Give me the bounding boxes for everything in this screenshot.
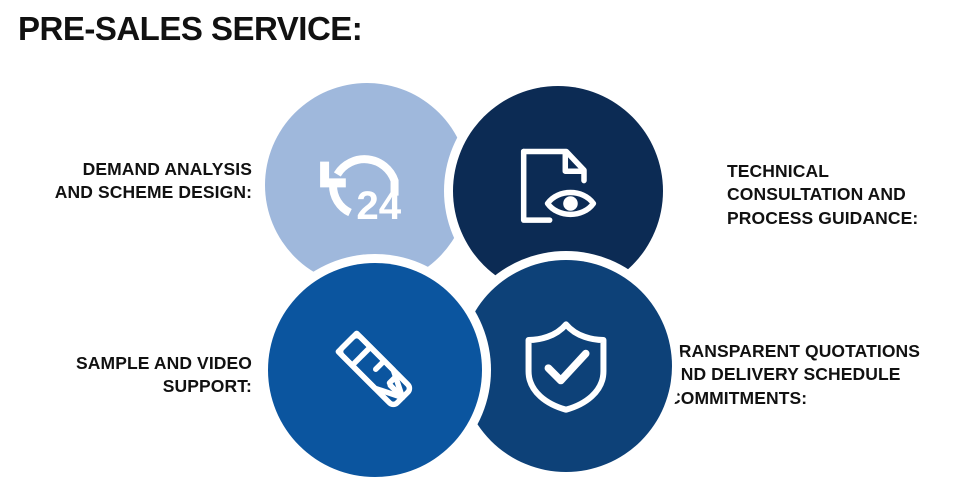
- label-line: COMMITMENTS:: [668, 387, 960, 410]
- circle-cluster: 24: [255, 78, 685, 498]
- label-line: CONSULTATION AND: [727, 183, 949, 206]
- svg-text:24: 24: [356, 183, 401, 228]
- label-technical-consultation: TECHNICAL CONSULTATION AND PROCESS GUIDA…: [727, 160, 949, 230]
- label-line: SAMPLE AND VIDEO: [0, 352, 252, 375]
- shield-check-icon: [514, 314, 618, 418]
- label-sample-video-support: SAMPLE AND VIDEO SUPPORT:: [0, 352, 252, 399]
- label-line: DEMAND ANALYSIS: [0, 158, 252, 181]
- circle-demand-analysis[interactable]: 24: [265, 83, 469, 287]
- label-transparent-quotations: TRANSPARENT QUOTATIONS AND DELIVERY SCHE…: [668, 340, 960, 410]
- page-title: PRE-SALES SERVICE:: [18, 10, 362, 48]
- circle-transparent-quotations[interactable]: [460, 260, 672, 472]
- label-line: TECHNICAL: [727, 160, 949, 183]
- label-line: TRANSPARENT QUOTATIONS: [668, 340, 960, 363]
- clock-24-rotate-arrow-icon: 24: [314, 132, 420, 238]
- label-line: AND DELIVERY SCHEDULE: [668, 363, 960, 386]
- label-line: AND SCHEME DESIGN:: [0, 181, 252, 204]
- label-demand-analysis: DEMAND ANALYSIS AND SCHEME DESIGN:: [0, 158, 252, 205]
- document-eye-review-icon: [506, 139, 610, 243]
- pencil-ruler-cross-icon: [321, 316, 429, 424]
- circle-sample-video-support[interactable]: [268, 263, 482, 477]
- pre-sales-service-infographic: PRE-SALES SERVICE: 24: [0, 0, 960, 498]
- label-line: SUPPORT:: [0, 375, 252, 398]
- label-line: PROCESS GUIDANCE:: [727, 207, 949, 230]
